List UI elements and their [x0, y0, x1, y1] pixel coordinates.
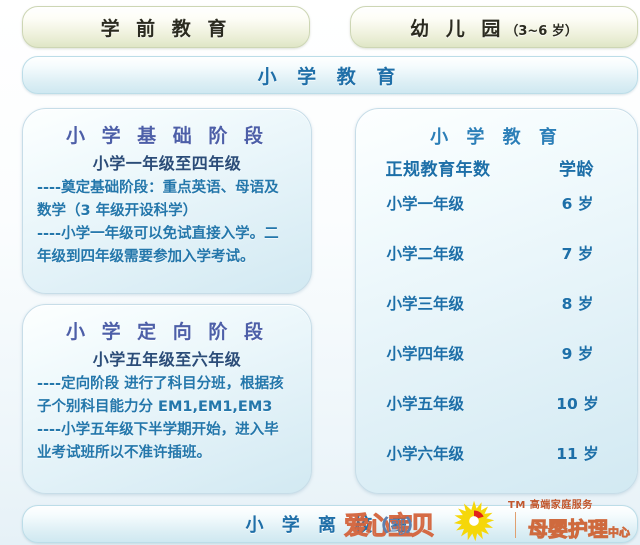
cell-grade: 小学四年级: [377, 342, 539, 364]
card-grade-age-table: 小 学 教 育 正规教育年数 学龄 小学一年级 6 岁 小学二年级 7 岁 小学…: [355, 108, 638, 494]
cell-age: 7 岁: [539, 242, 617, 264]
card-basic-stage-line: ----奠定基础阶段：重点英语、母语及: [37, 178, 297, 199]
brand-block: TM 高端家庭服务 母婴护理中心: [452, 495, 640, 545]
card-orientation-stage-body: 小 学 定 向 阶 段 小学五年级至六年级 ----定向阶段 进行了科目分班，根…: [23, 305, 311, 475]
brand-tagline: TM 高端家庭服务: [508, 496, 593, 511]
card-orientation-stage-line: ----定向阶段 进行了科目分班，根据孩: [37, 374, 297, 395]
table-row: 小学六年级 11 岁: [372, 442, 621, 492]
card-orientation-stage-title: 小 学 定 向 阶 段: [37, 317, 297, 344]
table-row: 小学二年级 7 岁: [372, 242, 621, 292]
cell-age: 6 岁: [539, 192, 617, 214]
sunburst-logo-icon: [452, 499, 496, 543]
watermark-subtext: （BJ）: [372, 512, 422, 536]
card-orientation-stage: 小 学 定 向 阶 段 小学五年级至六年级 ----定向阶段 进行了科目分班，根…: [22, 304, 312, 494]
table-row: 小学三年级 8 岁: [372, 292, 621, 342]
card-basic-stage-line: 数学（3 年级开设科学）: [37, 201, 297, 222]
column-header-age: 学龄: [538, 155, 616, 180]
card-orientation-stage-line: 业考试班所以不准许插班。: [37, 443, 297, 464]
brand-name-tail: 中心: [608, 526, 630, 539]
cell-age: 10 岁: [539, 392, 617, 414]
card-basic-stage-subtitle: 小学一年级至四年级: [37, 150, 297, 174]
table-header-row: 正规教育年数 学龄: [372, 155, 621, 180]
table-row: 小学四年级 9 岁: [372, 342, 621, 392]
brand-name: 母婴护理中心: [528, 513, 630, 542]
cell-grade: 小学二年级: [377, 242, 539, 264]
card-basic-stage-line: 年级到四年级需要参加入学考试。: [37, 247, 297, 268]
cell-age: 9 岁: [539, 342, 617, 364]
cell-age: 11 岁: [539, 442, 617, 464]
card-basic-stage-title: 小 学 基 础 阶 段: [37, 121, 297, 148]
kindergarten-age-range: （3~6 岁）: [505, 24, 578, 39]
primary-education-label: 小 学 教 育: [258, 62, 403, 89]
header-pill-preschool: 学 前 教 育: [22, 6, 310, 48]
grade-age-table-body: 小 学 教 育 正规教育年数 学龄 小学一年级 6 岁 小学二年级 7 岁 小学…: [356, 109, 637, 494]
header-pill-kindergarten: 幼 儿 园（3~6 岁）: [350, 6, 638, 48]
column-header-years: 正规教育年数: [378, 155, 538, 180]
preschool-label: 学 前 教 育: [101, 14, 232, 41]
kindergarten-label: 幼 儿 园: [410, 18, 505, 40]
card-orientation-stage-line: 子个别科目能力分 EM1,EM1,EM3: [37, 397, 297, 418]
card-orientation-stage-line: ----小学五年级下半学期开始，进入毕: [37, 420, 297, 441]
brand-divider: [515, 512, 516, 538]
cell-age: 8 岁: [539, 292, 617, 314]
card-orientation-stage-subtitle: 小学五年级至六年级: [37, 346, 297, 370]
grade-age-table-title: 小 学 教 育: [372, 123, 621, 149]
banner-primary-education: 小 学 教 育: [22, 56, 638, 94]
table-row: 小学一年级 6 岁: [372, 192, 621, 242]
card-basic-stage-body: 小 学 基 础 阶 段 小学一年级至四年级 ----奠定基础阶段：重点英语、母语…: [23, 109, 311, 279]
cell-grade: 小学六年级: [377, 442, 539, 464]
card-basic-stage-line: ----小学一年级可以免试直接入学。二: [37, 224, 297, 245]
infographic-page: 学 前 教 育 幼 儿 园（3~6 岁） 小 学 教 育 小 学 基 础 阶 段…: [0, 0, 640, 545]
table-row: 小学五年级 10 岁: [372, 392, 621, 442]
brand-name-main: 母婴护理: [528, 517, 608, 541]
cell-grade: 小学五年级: [377, 392, 539, 414]
card-basic-stage: 小 学 基 础 阶 段 小学一年级至四年级 ----奠定基础阶段：重点英语、母语…: [22, 108, 312, 294]
brand-tagline-text: TM 高端家庭服务: [508, 500, 593, 511]
cell-grade: 小学三年级: [377, 292, 539, 314]
cell-grade: 小学一年级: [377, 192, 539, 214]
